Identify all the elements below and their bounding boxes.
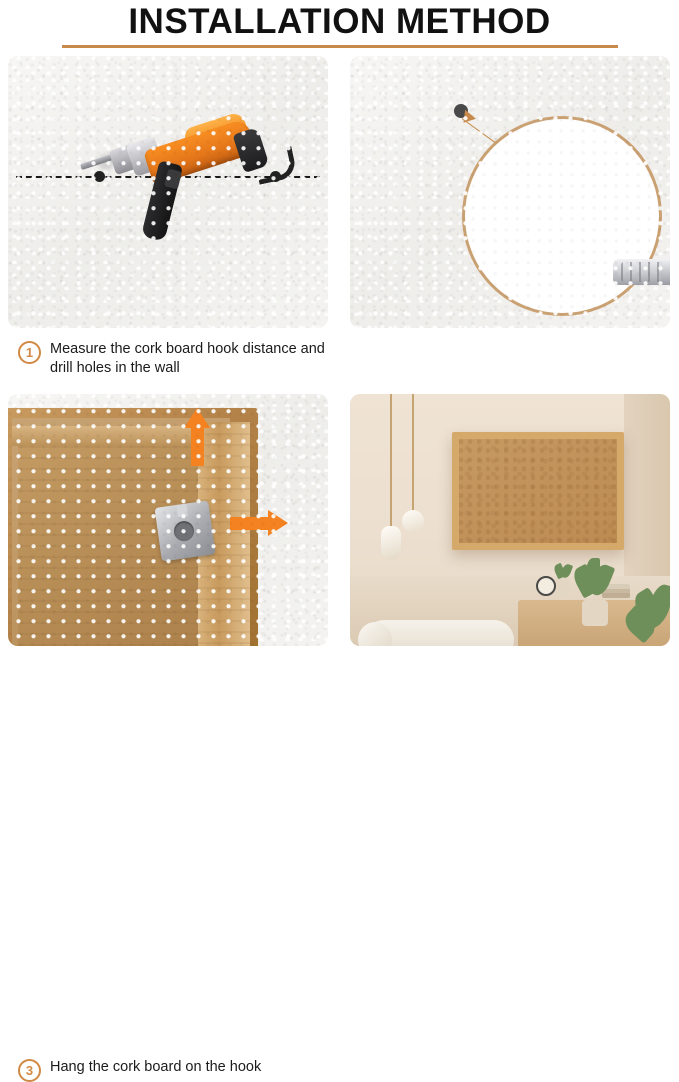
title-divider bbox=[62, 45, 618, 48]
arrow-right-icon bbox=[230, 510, 288, 536]
wall-texture bbox=[8, 56, 328, 328]
installation-method-infographic: INSTALLATION METHOD bbox=[0, 0, 679, 703]
arrow-up-head bbox=[184, 408, 210, 428]
pendant-cord-1 bbox=[412, 394, 414, 512]
hook-notch bbox=[176, 504, 188, 517]
room-scene bbox=[350, 394, 670, 646]
wall-texture bbox=[8, 394, 328, 646]
pendant-lamp-ball bbox=[402, 510, 424, 532]
mounted-cork-board bbox=[452, 432, 624, 550]
step-3-caption-text: Hang the cork board on the hook bbox=[50, 1058, 261, 1077]
step-3-badge: 3 bbox=[18, 1059, 41, 1082]
header: INSTALLATION METHOD bbox=[0, 0, 679, 52]
magnifier-circle bbox=[462, 116, 662, 316]
step-4-cell: 4 The installation in complete bbox=[350, 394, 670, 694]
cork-board-back bbox=[8, 408, 258, 646]
step-2-image bbox=[350, 56, 670, 328]
step-1-badge: 1 bbox=[18, 341, 41, 364]
cork-surface bbox=[459, 439, 617, 543]
step-1-caption-text: Measure the cork board hook distance and… bbox=[50, 340, 326, 378]
small-plant-pot bbox=[556, 578, 570, 596]
step-1-image bbox=[8, 56, 328, 328]
arrow-right-head bbox=[268, 510, 288, 536]
screw-head bbox=[661, 260, 670, 285]
floor-plant-pot bbox=[582, 600, 608, 626]
hook-hole bbox=[173, 520, 196, 543]
step-3-image bbox=[8, 394, 328, 646]
electric-drill-icon bbox=[88, 104, 278, 249]
step-3-caption: 3 Hang the cork board on the hook bbox=[18, 1058, 326, 1082]
floor-plant-leaf bbox=[586, 558, 600, 588]
step-1-cell: 1 Measure the cork board hook distance a… bbox=[8, 56, 328, 386]
wall-texture bbox=[350, 56, 670, 328]
table-clock bbox=[536, 576, 556, 596]
metal-hanger-hook bbox=[155, 501, 216, 562]
drill-power-cable bbox=[253, 146, 298, 184]
pendant-lamp-cylinder bbox=[381, 526, 401, 560]
pendant-cord-2 bbox=[390, 394, 392, 528]
step-4-image bbox=[350, 394, 670, 646]
page-title: INSTALLATION METHOD bbox=[0, 2, 679, 42]
step-3-cell: 3 Hang the cork board on the hook bbox=[8, 394, 328, 694]
arrow-right-stem bbox=[230, 517, 270, 530]
arrow-up-stem bbox=[191, 426, 204, 466]
drill-trigger bbox=[164, 169, 182, 190]
step-1-caption: 1 Measure the cork board hook distance a… bbox=[18, 340, 326, 378]
arrow-up-icon bbox=[184, 408, 210, 466]
step-2-cell: 2 knock in the expansion screws bbox=[350, 56, 670, 386]
